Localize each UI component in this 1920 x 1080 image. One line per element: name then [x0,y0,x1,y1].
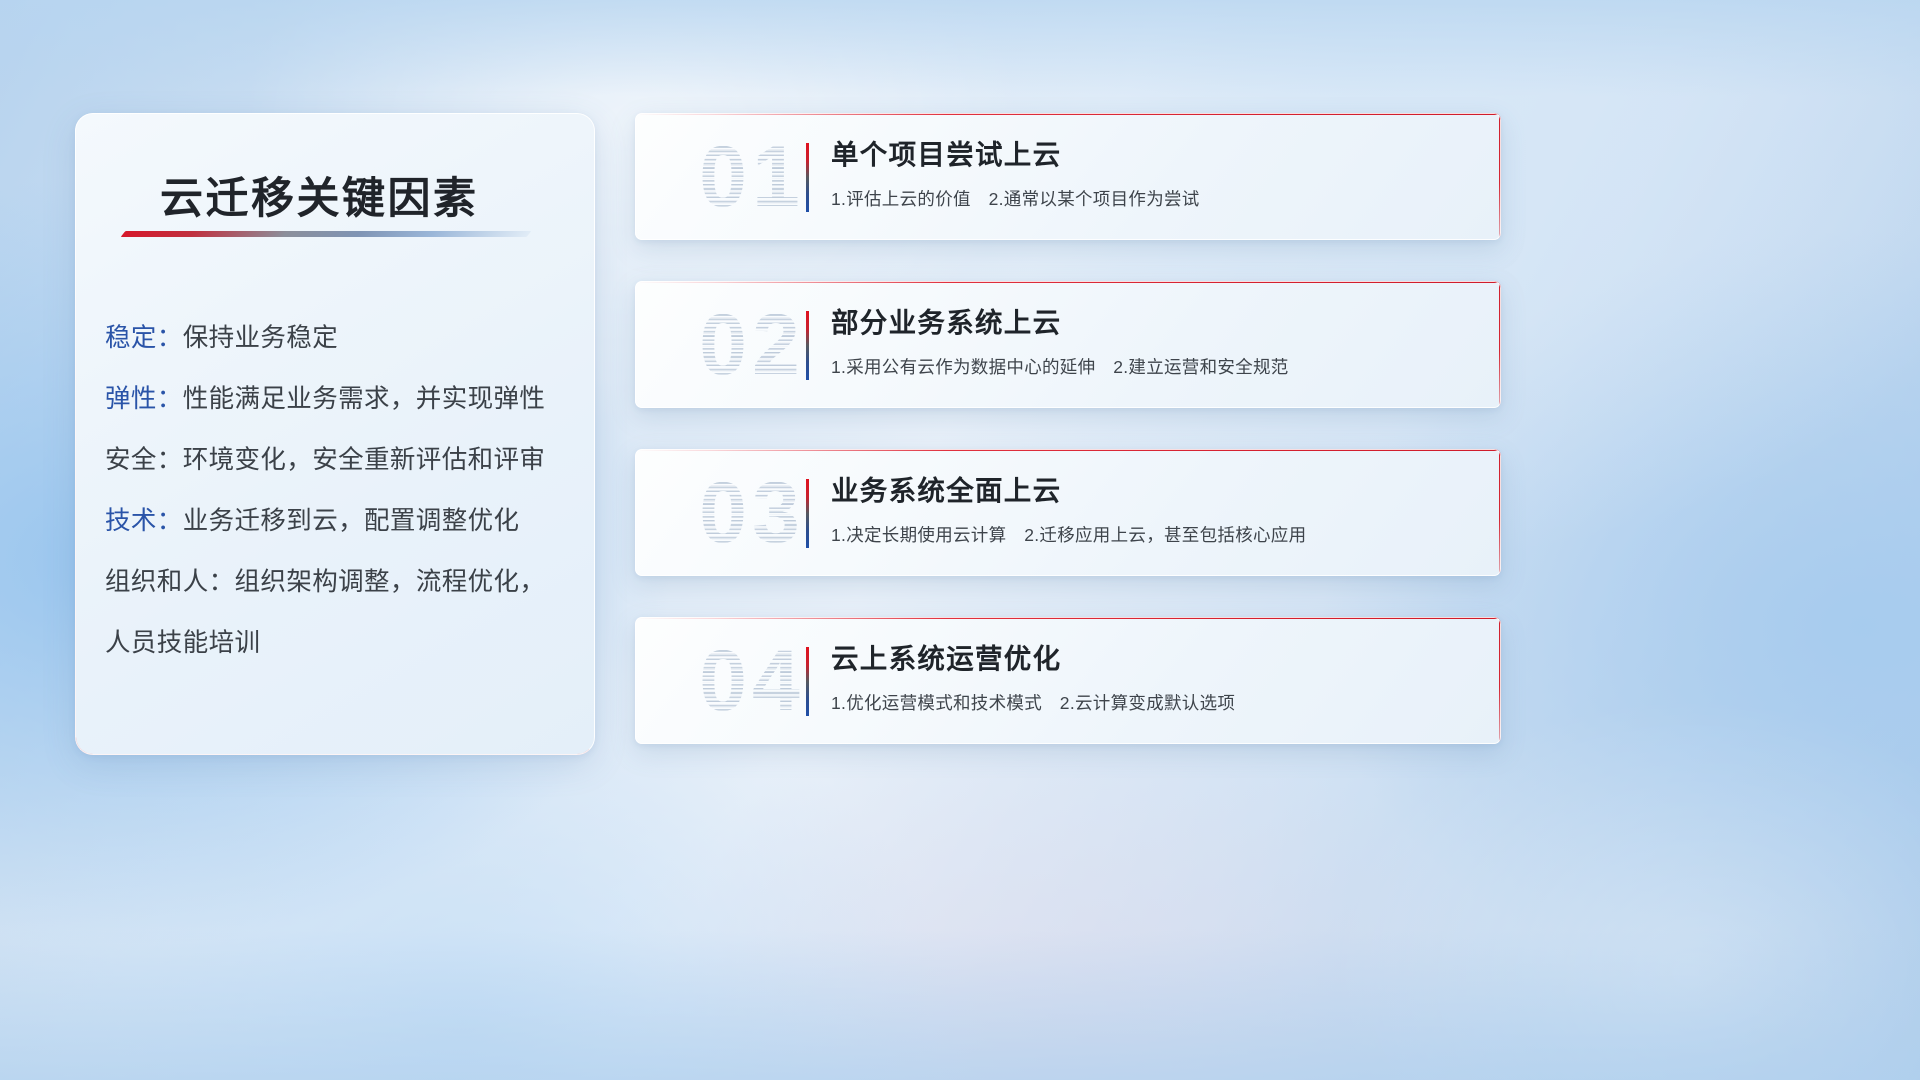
key-factor-label: 技术： [105,507,183,535]
key-factor-text: 环境变化，安全重新评估和评审 [183,446,546,474]
card-top-accent-line [635,113,1501,115]
stage-number-ghost: 03 [657,457,847,569]
key-factor-text: 人员技能培训 [105,629,260,657]
card-title: 部分业务系统上云 [831,303,1479,343]
stage-card[interactable]: 0202部分业务系统上云1.采用公有云作为数据中心的延伸 2.建立运营和安全规范 [635,281,1501,408]
card-description: 1.优化运营模式和技术模式 2.云计算变成默认选项 [831,690,1479,715]
stage-card[interactable]: 0101单个项目尝试上云1.评估上云的价值 2.通常以某个项目作为尝试 [635,113,1501,240]
card-description: 1.决定长期使用云计算 2.迁移应用上云，甚至包括核心应用 [831,522,1479,547]
key-factor-label: 组织和人： [105,568,235,596]
card-body: 云上系统运营优化1.优化运营模式和技术模式 2.云计算变成默认选项 [831,639,1479,715]
key-factor-item: 组织和人：组织架构调整，流程优化， [105,552,577,613]
stage-number-ghost: 01 [657,121,847,233]
key-factor-item: 稳定：保持业务稳定 [105,308,577,369]
stage-number-ghost: 04 [657,625,847,737]
key-factor-item: 技术：业务迁移到云，配置调整优化 [105,491,577,552]
card-right-accent-line [1499,113,1501,240]
card-right-accent-line [1499,449,1501,576]
key-factor-item: 人员技能培训 [105,613,577,674]
key-factor-text: 保持业务稳定 [183,324,338,352]
key-factor-label: 稳定： [105,324,183,352]
key-factor-text: 性能满足业务需求，并实现弹性 [183,385,546,413]
key-factors-list: 稳定：保持业务稳定弹性：性能满足业务需求，并实现弹性安全：环境变化，安全重新评估… [105,308,577,674]
stage-number-ghost: 02 [657,289,847,401]
card-description: 1.采用公有云作为数据中心的延伸 2.建立运营和安全规范 [831,354,1479,379]
card-body: 单个项目尝试上云1.评估上云的价值 2.通常以某个项目作为尝试 [831,135,1479,211]
key-factor-item: 弹性：性能满足业务需求，并实现弹性 [105,369,577,430]
title-gradient-rule [121,231,532,237]
stage-card[interactable]: 0404云上系统运营优化1.优化运营模式和技术模式 2.云计算变成默认选项 [635,617,1501,744]
card-body: 部分业务系统上云1.采用公有云作为数据中心的延伸 2.建立运营和安全规范 [831,303,1479,379]
key-factor-text: 组织架构调整，流程优化， [235,568,546,596]
key-factors-panel: 云迁移关键因素 稳定：保持业务稳定弹性：性能满足业务需求，并实现弹性安全：环境变… [75,113,595,755]
key-factor-item: 安全：环境变化，安全重新评估和评审 [105,430,577,491]
card-right-accent-line [1499,617,1501,744]
card-divider-bar [806,647,809,716]
card-title: 云上系统运营优化 [831,639,1479,679]
card-divider-bar [806,479,809,548]
card-body: 业务系统全面上云1.决定长期使用云计算 2.迁移应用上云，甚至包括核心应用 [831,471,1479,547]
card-divider-bar [806,311,809,380]
card-top-accent-line [635,617,1501,619]
card-title: 业务系统全面上云 [831,471,1479,511]
card-top-accent-line [635,449,1501,451]
card-description: 1.评估上云的价值 2.通常以某个项目作为尝试 [831,186,1479,211]
card-right-accent-line [1499,281,1501,408]
stage-card[interactable]: 0303业务系统全面上云1.决定长期使用云计算 2.迁移应用上云，甚至包括核心应… [635,449,1501,576]
key-factor-label: 弹性： [105,385,183,413]
key-factor-text: 业务迁移到云，配置调整优化 [183,507,520,535]
key-factor-label: 安全： [105,446,183,474]
card-top-accent-line [635,281,1501,283]
page-title: 云迁移关键因素 [160,164,479,226]
stage-cards-list: 0101单个项目尝试上云1.评估上云的价值 2.通常以某个项目作为尝试0202部… [635,113,1501,785]
card-title: 单个项目尝试上云 [831,135,1479,175]
card-divider-bar [806,143,809,212]
